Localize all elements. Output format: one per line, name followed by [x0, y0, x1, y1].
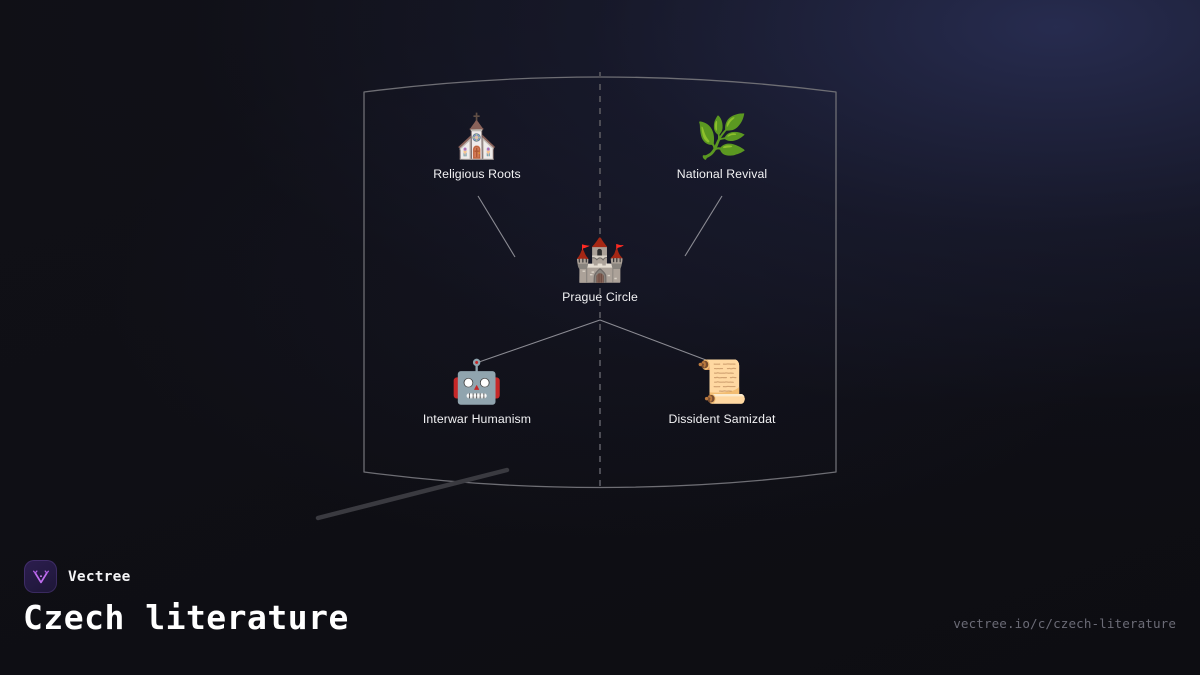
- node-interwar-humanism[interactable]: 🤖 Interwar Humanism: [377, 358, 577, 428]
- node-label: Interwar Humanism: [423, 412, 531, 427]
- church-icon: ⛪: [377, 113, 577, 161]
- page-title: Czech literature: [23, 598, 349, 637]
- node-label: Prague Circle: [562, 290, 638, 305]
- site-url: vectree.io/c/czech-literature: [953, 616, 1176, 631]
- node-label: Dissident Samizdat: [668, 412, 775, 427]
- node-label: National Revival: [677, 167, 767, 182]
- castle-icon: 🏰: [500, 236, 700, 284]
- node-label: Religious Roots: [433, 167, 521, 182]
- node-religious-roots[interactable]: ⛪ Religious Roots: [377, 113, 577, 183]
- scroll-icon: 📜: [622, 358, 822, 406]
- brand-row[interactable]: Vectree: [24, 560, 131, 593]
- brand-name: Vectree: [68, 569, 131, 585]
- footer: Vectree Czech literature vectree.io/c/cz…: [0, 560, 1200, 675]
- vectree-logo-glyph: [31, 567, 51, 587]
- screenshot-root: ⛪ Religious Roots 🌿 National Revival 🏰 P…: [0, 0, 1200, 675]
- node-dissident-samizdat[interactable]: 📜 Dissident Samizdat: [622, 358, 822, 428]
- edge-prague-circle-dissident-samizdat: [600, 320, 706, 360]
- node-prague-circle[interactable]: 🏰 Prague Circle: [500, 236, 700, 306]
- herb-icon: 🌿: [622, 113, 822, 161]
- edge-prague-circle-interwar-humanism: [479, 320, 600, 362]
- robot-icon: 🤖: [377, 358, 577, 406]
- node-national-revival[interactable]: 🌿 National Revival: [622, 113, 822, 183]
- vectree-logo-icon: [24, 560, 57, 593]
